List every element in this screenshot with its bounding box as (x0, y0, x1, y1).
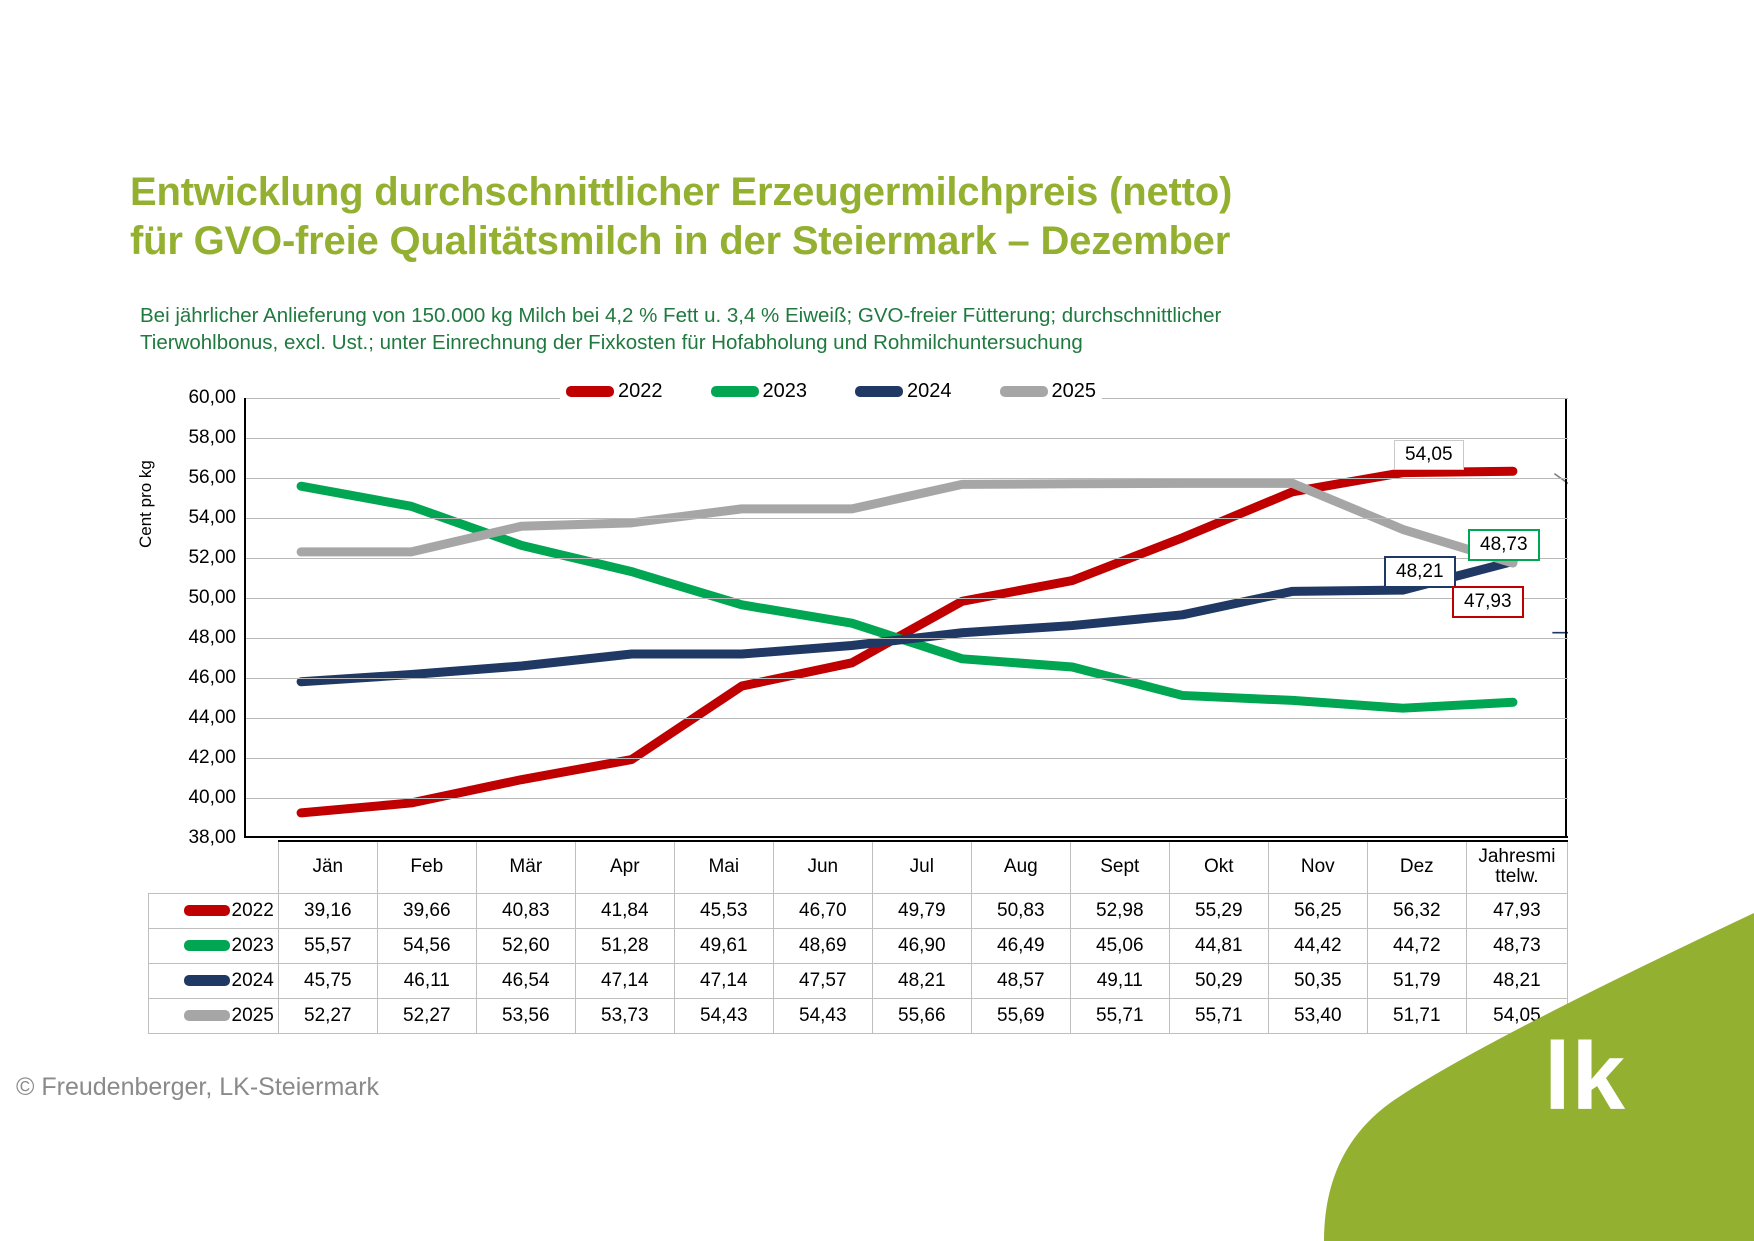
table-cell: 53,40 (1268, 998, 1367, 1033)
table-cell: 48,57 (971, 963, 1070, 998)
column-header-Dez: Dez (1367, 841, 1466, 893)
table-row: 202552,2752,2753,5653,7354,4354,4355,665… (149, 998, 1568, 1033)
callout-2024-average: 48,21 (1384, 556, 1456, 588)
page-subtitle-line-2: Tierwohlbonus, excl. Ust.; unter Einrech… (140, 329, 1500, 356)
table-cell: 55,71 (1070, 998, 1169, 1033)
table-cell: 39,66 (377, 893, 476, 928)
table-cell: 55,57 (278, 928, 377, 963)
annual-header-line-1: Jahresmi (1478, 846, 1555, 867)
table-cell: 44,81 (1169, 928, 1268, 963)
legend-label: 2025 (1052, 380, 1097, 403)
table-cell: 44,42 (1268, 928, 1367, 963)
table-cell: 46,54 (476, 963, 575, 998)
table-row: 202239,1639,6640,8341,8445,5346,7049,795… (149, 893, 1568, 928)
copyright-footer: © Freudenberger, LK-Steiermark (16, 1073, 379, 1102)
table-cell: 45,75 (278, 963, 377, 998)
table-cell: 52,60 (476, 928, 575, 963)
legend-item-2024: 2024 (855, 380, 952, 403)
column-header-Apr: Apr (575, 841, 674, 893)
legend-label: 2022 (618, 380, 663, 403)
table-cell: 49,79 (872, 893, 971, 928)
table-cell: 55,69 (971, 998, 1070, 1033)
table-row: 202355,5754,5652,6051,2849,6148,6946,904… (149, 928, 1568, 963)
series-lines (246, 398, 1568, 836)
callout-2023-average: 48,73 (1468, 529, 1540, 561)
table-cell: 45,53 (674, 893, 773, 928)
column-header-Nov: Nov (1268, 841, 1367, 893)
gridline (246, 598, 1568, 599)
table-cell-annual-average: 48,73 (1466, 928, 1567, 963)
table-cell: 52,27 (377, 998, 476, 1033)
row-series-label-2024: 2024 (149, 963, 279, 998)
table-cell: 55,66 (872, 998, 971, 1033)
table-cell: 48,21 (872, 963, 971, 998)
column-header-annual-average: Jahresmittelw. (1466, 841, 1567, 893)
table-cell: 50,83 (971, 893, 1070, 928)
lk-logo-text: lk (1544, 1029, 1626, 1125)
table-corner-cell (149, 841, 279, 893)
row-series-label-2025: 2025 (149, 998, 279, 1033)
table-cell: 46,49 (971, 928, 1070, 963)
row-swatch-icon (184, 940, 230, 951)
page-title-line-1: Entwicklung durchschnittlicher Erzeugerm… (130, 168, 1550, 217)
plot-area (244, 398, 1568, 838)
table-cell: 56,25 (1268, 893, 1367, 928)
row-label-text: 2024 (232, 970, 274, 992)
y-tick-label: 46,00 (188, 667, 236, 689)
gridline (246, 558, 1568, 559)
gridline (246, 638, 1568, 639)
gridline (246, 758, 1568, 759)
row-swatch-icon (184, 1010, 230, 1021)
table-cell: 47,14 (575, 963, 674, 998)
table-cell: 41,84 (575, 893, 674, 928)
table-cell: 48,69 (773, 928, 872, 963)
line-chart: Cent pro kg 60,0058,0056,0054,0052,0050,… (148, 398, 1568, 838)
table-cell: 52,27 (278, 998, 377, 1033)
legend-label: 2023 (763, 380, 808, 403)
y-tick-label: 56,00 (188, 467, 236, 489)
row-swatch-icon (184, 975, 230, 986)
column-header-Aug: Aug (971, 841, 1070, 893)
table-cell: 39,16 (278, 893, 377, 928)
table-cell: 46,11 (377, 963, 476, 998)
data-table: JänFebMärAprMaiJunJulAugSeptOktNovDezJah… (148, 840, 1568, 1034)
column-header-Mär: Mär (476, 841, 575, 893)
y-tick-label: 48,00 (188, 627, 236, 649)
y-tick-label: 52,00 (188, 547, 236, 569)
page-subtitle-line-1: Bei jährlicher Anlieferung von 150.000 k… (140, 302, 1500, 329)
y-tick-label: 40,00 (188, 787, 236, 809)
column-header-Feb: Feb (377, 841, 476, 893)
gridline (246, 518, 1568, 519)
legend-item-2025: 2025 (1000, 380, 1097, 403)
legend-swatch-icon (566, 386, 614, 397)
table-cell: 47,57 (773, 963, 872, 998)
table-cell: 46,90 (872, 928, 971, 963)
column-header-Okt: Okt (1169, 841, 1268, 893)
table-cell: 45,06 (1070, 928, 1169, 963)
column-header-Jun: Jun (773, 841, 872, 893)
table-cell-annual-average: 48,21 (1466, 963, 1567, 998)
y-tick-label: 60,00 (188, 387, 236, 409)
column-header-Jul: Jul (872, 841, 971, 893)
legend-swatch-icon (855, 386, 903, 397)
data-table-wrapper: JänFebMärAprMaiJunJulAugSeptOktNovDezJah… (148, 840, 1568, 1034)
y-tick-label: 58,00 (188, 427, 236, 449)
table-cell: 46,70 (773, 893, 872, 928)
callout-2022-average: 47,93 (1452, 586, 1524, 618)
table-cell: 52,98 (1070, 893, 1169, 928)
table-cell: 54,43 (773, 998, 872, 1033)
row-series-label-2023: 2023 (149, 928, 279, 963)
row-label-text: 2025 (232, 1005, 274, 1027)
y-tick-label: 54,00 (188, 507, 236, 529)
y-tick-label: 42,00 (188, 747, 236, 769)
data-table-head: JänFebMärAprMaiJunJulAugSeptOktNovDezJah… (149, 841, 1568, 893)
table-cell: 54,56 (377, 928, 476, 963)
table-cell: 55,29 (1169, 893, 1268, 928)
annual-header-line-2: ttelw. (1495, 866, 1538, 887)
column-header-Jän: Jän (278, 841, 377, 893)
series-line-2024 (301, 561, 1513, 681)
series-line-2025 (301, 483, 1513, 563)
gridline (246, 438, 1568, 439)
y-tick-label: 50,00 (188, 587, 236, 609)
page-title: Entwicklung durchschnittlicher Erzeugerm… (130, 168, 1550, 266)
table-cell: 49,11 (1070, 963, 1169, 998)
chart-legend: 2022202320242025 (560, 378, 1102, 405)
table-cell: 47,14 (674, 963, 773, 998)
legend-label: 2024 (907, 380, 952, 403)
table-cell: 55,71 (1169, 998, 1268, 1033)
callout-2025-average: 54,05 (1394, 440, 1464, 470)
table-cell: 51,28 (575, 928, 674, 963)
row-label-text: 2023 (232, 935, 274, 957)
page-title-line-2: für GVO-freie Qualitätsmilch in der Stei… (130, 217, 1550, 266)
gridline (246, 798, 1568, 799)
table-cell: 56,32 (1367, 893, 1466, 928)
table-cell: 40,83 (476, 893, 575, 928)
table-cell-annual-average: 47,93 (1466, 893, 1567, 928)
column-header-Sept: Sept (1070, 841, 1169, 893)
y-tick-label: 44,00 (188, 707, 236, 729)
table-cell: 50,29 (1169, 963, 1268, 998)
gridline (246, 478, 1568, 479)
page-subtitle: Bei jährlicher Anlieferung von 150.000 k… (140, 302, 1500, 357)
table-cell: 54,43 (674, 998, 773, 1033)
row-series-label-2022: 2022 (149, 893, 279, 928)
row-swatch-icon (184, 905, 230, 916)
table-cell: 50,35 (1268, 963, 1367, 998)
y-axis-tick-labels: 60,0058,0056,0054,0052,0050,0048,0046,00… (148, 398, 244, 838)
table-cell: 49,61 (674, 928, 773, 963)
legend-item-2023: 2023 (711, 380, 808, 403)
table-cell: 51,79 (1367, 963, 1466, 998)
table-header-row: JänFebMärAprMaiJunJulAugSeptOktNovDezJah… (149, 841, 1568, 893)
legend-item-2022: 2022 (566, 380, 663, 403)
row-label-text: 2022 (232, 900, 274, 922)
gridline (246, 678, 1568, 679)
table-row: 202445,7546,1146,5447,1447,1447,5748,214… (149, 963, 1568, 998)
table-cell: 53,73 (575, 998, 674, 1033)
table-cell: 51,71 (1367, 998, 1466, 1033)
legend-swatch-icon (711, 386, 759, 397)
gridline (246, 718, 1568, 719)
column-header-Mai: Mai (674, 841, 773, 893)
table-cell: 53,56 (476, 998, 575, 1033)
legend-swatch-icon (1000, 386, 1048, 397)
table-cell: 44,72 (1367, 928, 1466, 963)
data-table-body: 202239,1639,6640,8341,8445,5346,7049,795… (149, 893, 1568, 1033)
